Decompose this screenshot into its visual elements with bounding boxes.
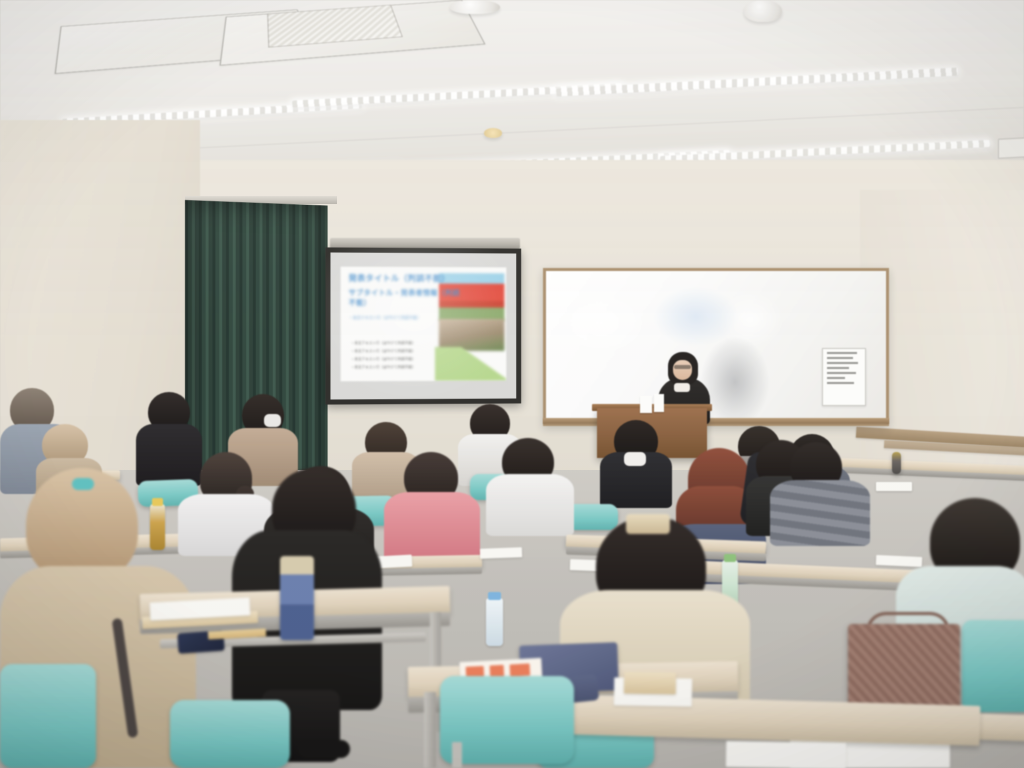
- lecture-hall-photo: 発表タイトル（判読不能） サブタイトル・発表者情報（判読不能） ・本文テキスト行…: [0, 0, 1024, 768]
- desk-thermos-right: [892, 452, 901, 474]
- ceiling-dome-light-icon: [450, 0, 500, 14]
- tea-bottle: [150, 504, 165, 550]
- ceiling-downlight-icon: [484, 128, 502, 138]
- ceiling-light-bar-3: [556, 67, 958, 96]
- handout-mid-4: [876, 555, 922, 567]
- attendee-front-3-bow-icon: [626, 514, 670, 534]
- handout-mid-2: [480, 547, 522, 558]
- chair-front-1[interactable]: [0, 664, 96, 768]
- desk-front-center-leg: [424, 692, 436, 768]
- slide-body-line-1: ・本文テキスト行（ぼやけて判読不能）: [351, 341, 499, 347]
- green-tea-bottle-cap: [724, 554, 736, 562]
- projection-screen[interactable]: 発表タイトル（判読不能） サブタイトル・発表者情報（判読不能） ・本文テキスト行…: [325, 247, 521, 404]
- ceiling-dome-speaker-icon: [744, 0, 782, 22]
- wood-board-front-center: [624, 672, 676, 695]
- chair-front-empty-1-leg: [452, 742, 462, 768]
- slide-body-line-3: ・本文テキスト行（ぼやけて判読不能）: [351, 357, 499, 363]
- tea-bottle-cap: [152, 498, 163, 506]
- attendee-back-4-mask-icon: [264, 414, 281, 427]
- attendee-mid-7-body: [770, 480, 870, 546]
- podium-paper-2: [654, 394, 664, 412]
- attendee-back-3-body: [136, 424, 202, 486]
- slide-heading-line-1: 発表タイトル（判読不能）: [349, 274, 463, 284]
- chair-front-empty-2[interactable]: [170, 700, 290, 768]
- water-bottle-2: [486, 598, 503, 646]
- presentation-slide: 発表タイトル（判読不能） サブタイトル・発表者情報（判読不能） ・本文テキスト行…: [341, 267, 507, 382]
- desk-paper-right-back: [876, 482, 912, 491]
- chair-front-right[interactable]: [962, 620, 1024, 712]
- presenter-shadow-on-whiteboard: [700, 336, 770, 428]
- ceiling-access-panel-2: [998, 137, 1024, 159]
- attendee-front-1-hairtie-icon: [72, 478, 94, 490]
- screen-surface: 発表タイトル（判読不能） サブタイトル・発表者情報（判読不能） ・本文テキスト行…: [330, 252, 516, 399]
- attendee-mid-3-body: [384, 492, 480, 564]
- attendee-mid-4-body: [486, 474, 574, 536]
- whiteboard-marker-tray: [543, 418, 889, 424]
- slide-heading-line-2: サブタイトル・発表者情報（判読不能）: [349, 289, 463, 309]
- attendee-back-7-collar: [624, 452, 646, 466]
- whiteboard-notice: [822, 348, 866, 406]
- podium-paper-1: [640, 396, 652, 413]
- slide-body-line-4: ・本文テキスト行（ぼやけて判読不能）: [351, 365, 499, 371]
- water-bottle-2-cap: [488, 592, 501, 600]
- white-cloth-bottom: [726, 741, 846, 768]
- presenter-face: [673, 360, 692, 380]
- slide-subtext: ・本文テキスト行（ぼやけて判読不能）: [349, 315, 447, 321]
- presenter-glasses-icon: [674, 365, 691, 369]
- blue-thermos: [280, 556, 314, 640]
- slide-body-line-2: ・本文テキスト行（ぼやけて判読不能）: [351, 349, 499, 355]
- presenter-collar: [674, 383, 690, 392]
- attendee-front-2-shoe-icon: [298, 740, 350, 758]
